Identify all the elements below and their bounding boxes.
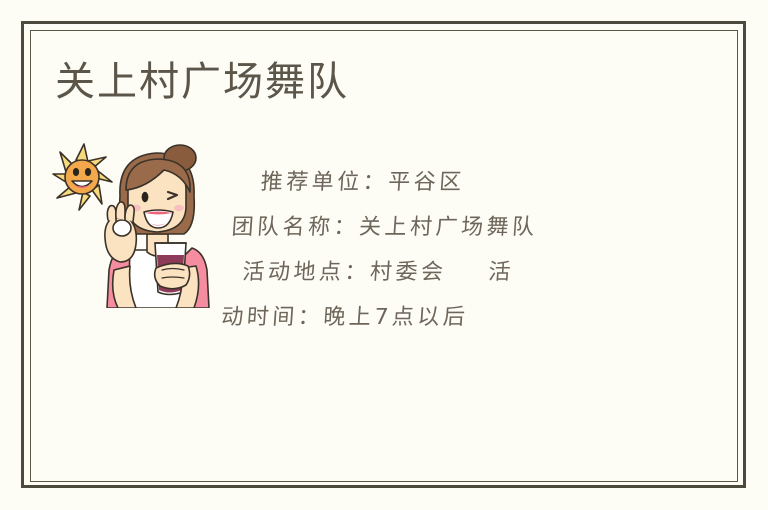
page-title: 关上村广场舞队	[55, 58, 349, 106]
activity-details: 推荐单位：平谷区 团队名称：关上村广场舞队 活动地点：村委会 活 动时间：晚上7…	[206, 160, 619, 340]
detail-line-activity-time: 动时间：晚上7点以后	[206, 295, 609, 340]
sun-icon	[53, 144, 112, 210]
detail-line-team-name: 团队名称：关上村广场舞队	[212, 205, 615, 250]
detail-line-recommending-unit: 推荐单位：平谷区	[215, 160, 618, 205]
poster-card: 关上村广场舞队	[0, 0, 768, 510]
illustration-woman-with-drink-and-sun	[52, 140, 228, 308]
detail-line-activity-place: 活动地点：村委会 活	[209, 250, 612, 295]
